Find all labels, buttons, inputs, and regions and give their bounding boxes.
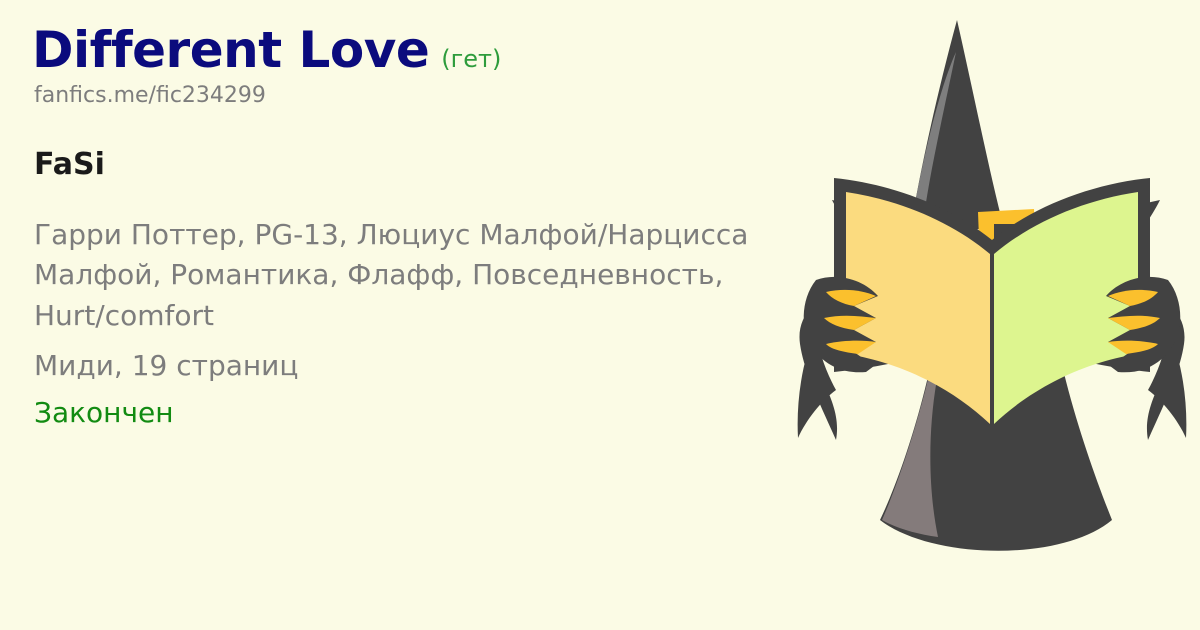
title-row: Different Love(гет)	[32, 24, 822, 77]
source-url: fanfics.me/fic234299	[34, 83, 822, 109]
story-size: Миди, 19 страниц	[34, 346, 822, 385]
genre-tag: (гет)	[441, 45, 501, 73]
author-name: FaSi	[34, 147, 822, 183]
story-info-column: Different Love(гет) fanfics.me/fic234299…	[32, 24, 822, 432]
story-tags: Гарри Поттер, PG-13, Люциус Малфой/Нарци…	[34, 215, 822, 336]
page-title: Different Love	[32, 21, 429, 79]
wizard-reading-book-icon	[792, 0, 1192, 630]
wizard-reading-book-illustration	[792, 0, 1192, 630]
status-badge: Закончен	[34, 393, 822, 432]
fanfic-preview-card: Different Love(гет) fanfics.me/fic234299…	[0, 0, 1200, 630]
